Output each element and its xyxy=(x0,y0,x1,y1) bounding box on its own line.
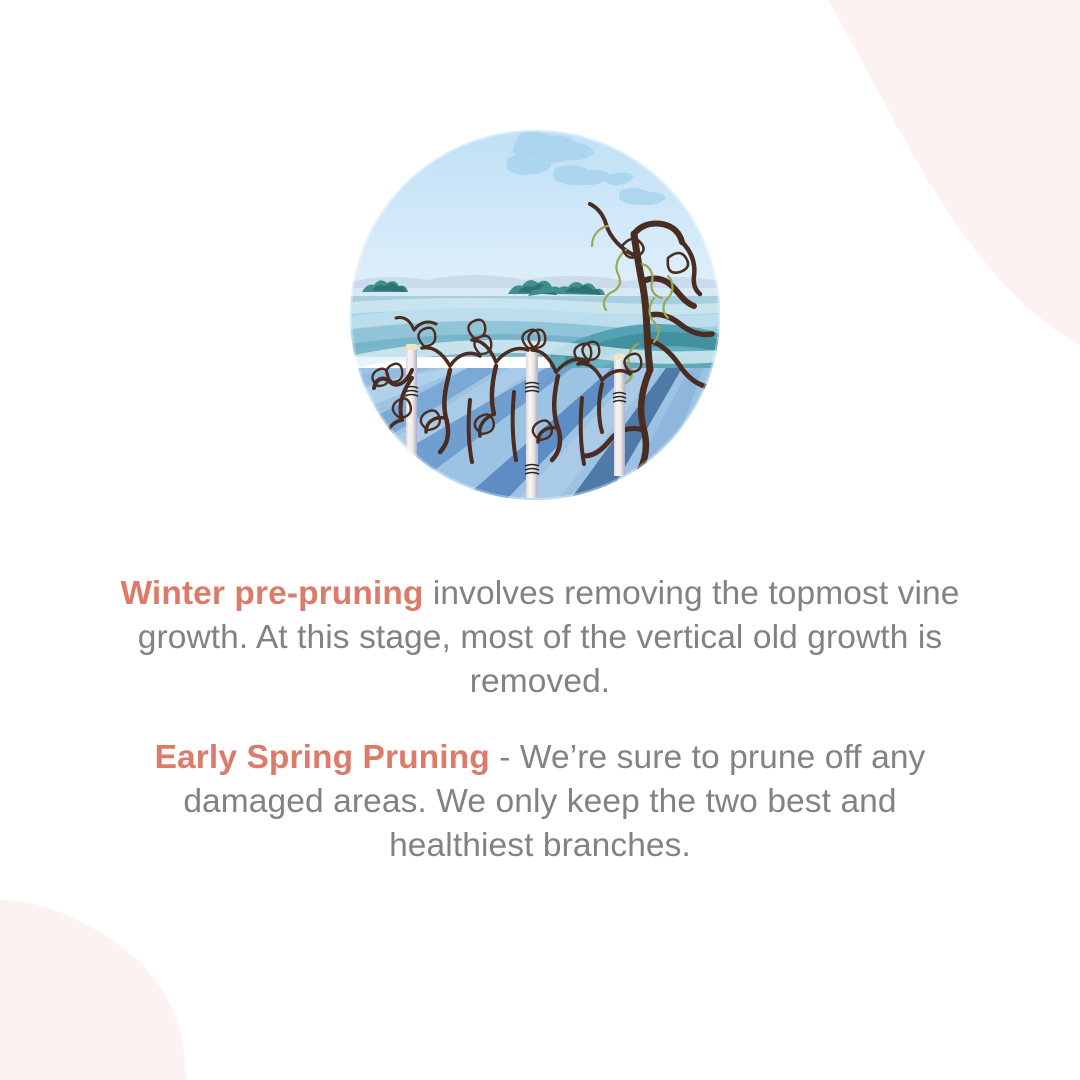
slide-canvas: Winter pre-pruning involves removing the… xyxy=(0,0,1080,1080)
vine-post-2 xyxy=(525,342,539,498)
paragraph-1-accent: Winter pre-pruning xyxy=(120,575,423,612)
vineyard-illustration xyxy=(350,130,720,500)
paragraph-2-accent: Early Spring Pruning xyxy=(155,739,490,776)
body-copy: Winter pre-pruning involves removing the… xyxy=(110,572,970,868)
blob-top-right xyxy=(828,0,1080,345)
footer: BELOVED SWIPE xyxy=(0,930,1080,1080)
paragraph-winter-pruning: Winter pre-pruning involves removing the… xyxy=(110,572,970,704)
paragraph-early-spring-pruning: Early Spring Pruning - We’re sure to pru… xyxy=(110,736,970,868)
